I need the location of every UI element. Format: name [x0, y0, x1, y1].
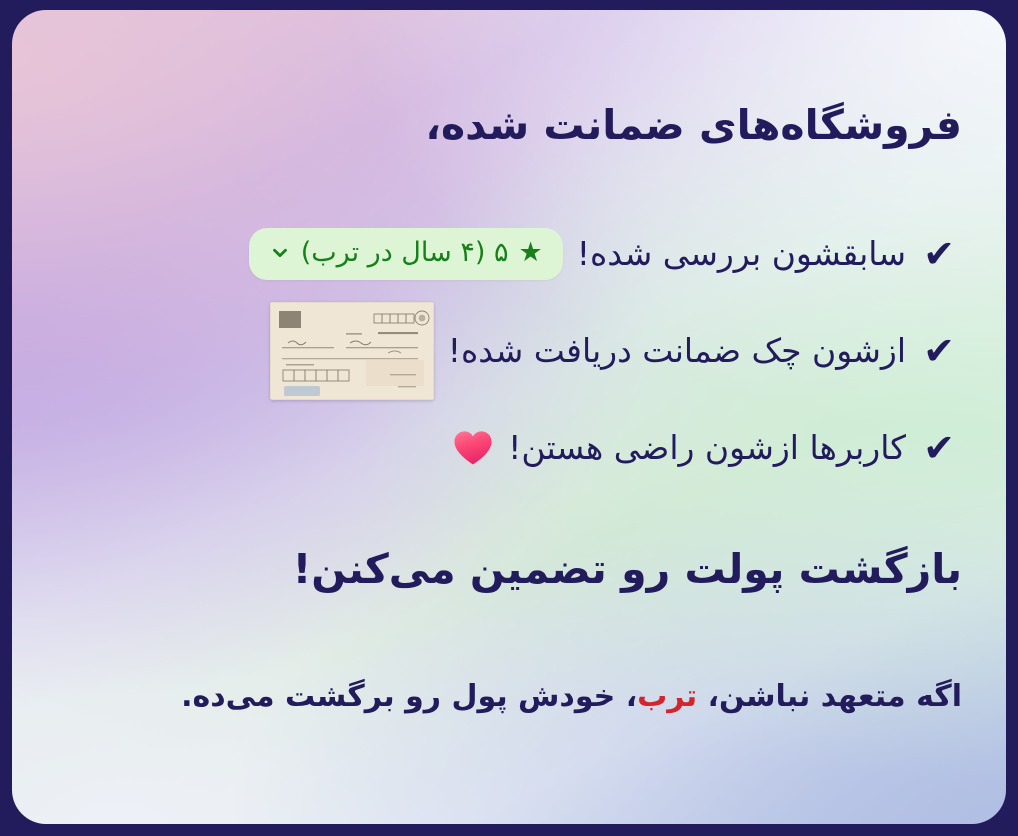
chevron-down-icon[interactable]: [269, 242, 291, 264]
list-item: ✔ ازشون چک ضمانت دریافت شده!: [56, 302, 962, 400]
star-icon: ★: [519, 239, 543, 266]
list-item-extra: ★ ۵ (۴ سال در ترب): [249, 228, 563, 280]
cheque-image[interactable]: [270, 302, 434, 400]
footer-text-part1: اگه متعهد نباشن،: [697, 679, 962, 714]
list-item-label: ازشون چک ضمانت دریافت شده!: [448, 330, 906, 373]
footer-note: اگه متعهد نباشن، ترب، خودش پول رو برگشت …: [56, 676, 962, 718]
guarantee-headline: بازگشت پولت رو تضمین می‌کنن!: [56, 542, 962, 597]
page-title: فروشگاه‌های ضمانت شده،: [56, 98, 962, 153]
footer-text-part2: ، خودش پول رو برگشت می‌ده.: [181, 679, 637, 714]
rating-badge-label: ۵ (۴ سال در ترب): [301, 237, 509, 269]
card-content: فروشگاه‌های ضمانت شده، ✔ سابقشون بررسی ش…: [12, 10, 1006, 824]
list-item: ✔ کاربرها ازشون راضی هستن!: [56, 400, 962, 496]
list-item-label: سابقشون بررسی شده!: [577, 233, 906, 276]
rating-badge[interactable]: ★ ۵ (۴ سال در ترب): [249, 228, 563, 280]
check-icon: ✔: [916, 235, 962, 273]
benefits-list: ✔ سابقشون بررسی شده! ★ ۵ (۴ سال در ترب): [56, 206, 962, 496]
heart-icon: [452, 427, 494, 469]
check-icon: ✔: [916, 429, 962, 467]
list-item: ✔ سابقشون بررسی شده! ★ ۵ (۴ سال در ترب): [56, 206, 962, 302]
list-item-extra: [452, 427, 494, 469]
list-item-label: کاربرها ازشون راضی هستن!: [508, 427, 906, 470]
list-item-extra: [270, 302, 434, 400]
outer-frame: فروشگاه‌های ضمانت شده، ✔ سابقشون بررسی ش…: [0, 0, 1018, 836]
check-icon: ✔: [916, 332, 962, 370]
brand-name: ترب: [637, 679, 697, 714]
gradient-card: فروشگاه‌های ضمانت شده، ✔ سابقشون بررسی ش…: [12, 10, 1006, 824]
